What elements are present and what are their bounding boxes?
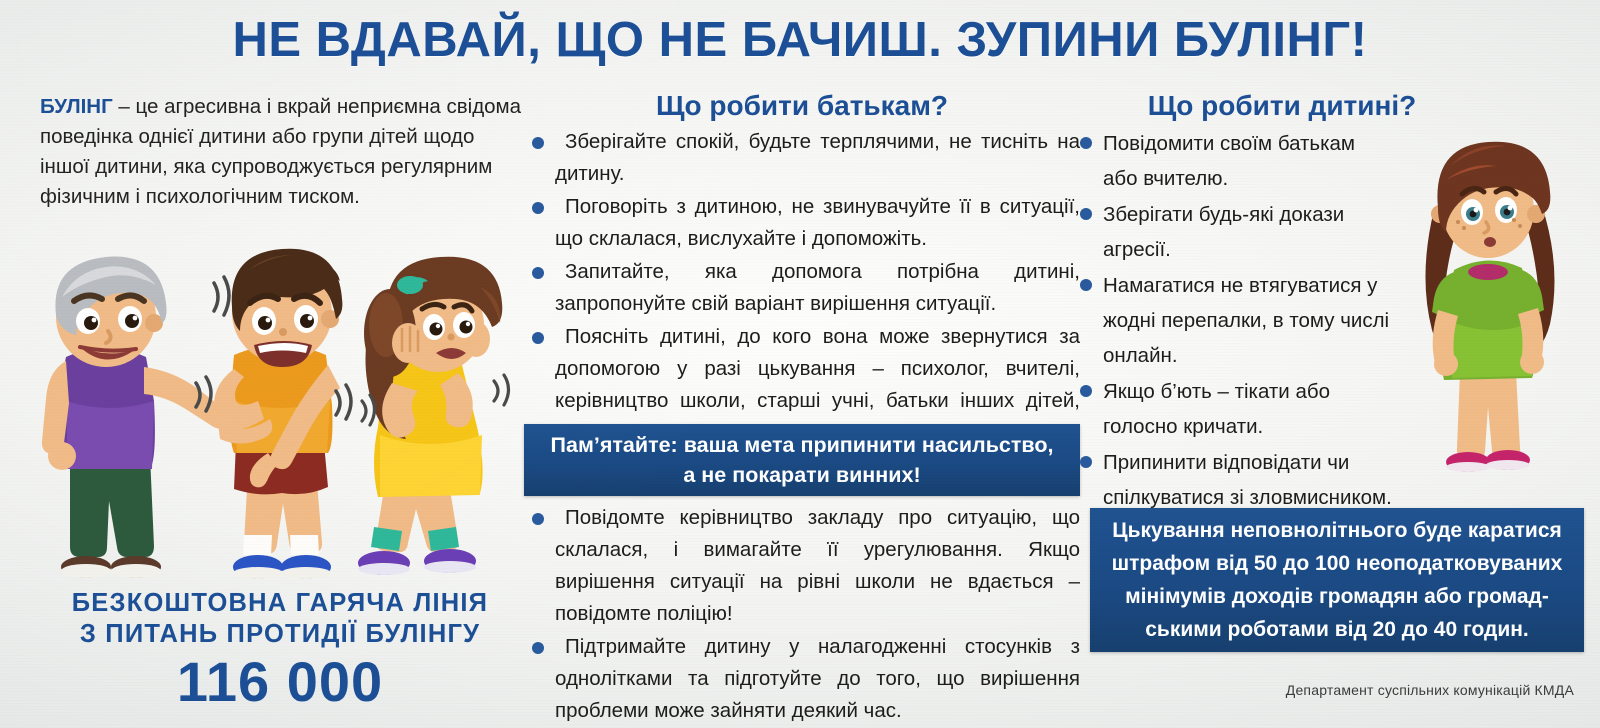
list-item: Припинити відповідати чи спілкуватися зі… <box>1072 445 1392 515</box>
penalty-line-4: ськими роботами від 20 до 40 годин. <box>1145 613 1529 646</box>
list-item: Поговоріть з дитиною, не звинувачуйте її… <box>524 191 1080 255</box>
list-item: Запитайте, яка допомога потрібна дитині,… <box>524 256 1080 320</box>
bullet-dot-icon <box>1080 456 1092 468</box>
hotline-line-1: БЕЗКОШТОВНА ГАРЯЧА ЛІНІЯ <box>30 588 530 619</box>
bully-boy-figure <box>42 257 241 578</box>
intro-keyword: БУЛІНГ <box>40 95 113 118</box>
intro-body: – це агресивна і вкрай неприємна свідома… <box>40 95 521 208</box>
sad-girl-illustration <box>1382 122 1592 490</box>
parents-advice-list-top: Зберігайте спокій, будьте терплячими, не… <box>524 126 1080 450</box>
list-item-text: Намагатися не втягуватися у жодні перепа… <box>1103 268 1392 373</box>
hotline-line-2: З ПИТАНЬ ПРОТИДІЇ БУЛІНГУ <box>30 619 530 650</box>
list-item-text: Повідомте керівництво закладу про ситуац… <box>555 502 1080 630</box>
list-item-text: Припинити відповідати чи спілкуватися зі… <box>1103 445 1392 515</box>
list-item-text: Зберігайте спокій, будьте терплячими, не… <box>555 126 1080 190</box>
scared-boy-figure <box>196 249 351 579</box>
list-item: Зберігайте спокій, будьте терплячими, не… <box>524 126 1080 190</box>
list-item-text: Якщо б’ють – тікати або голосно кричати. <box>1103 374 1392 444</box>
sad-girl-figure <box>1425 142 1554 472</box>
department-credit: Департамент суспільних комунікацій КМДА <box>1286 682 1574 698</box>
penalty-line-1: Цькування неповнолітнього буде каратися <box>1112 514 1562 547</box>
section-heading-child: Що робити дитині? <box>1072 90 1492 122</box>
remember-callout-box: Пам’ятайте: ваша мета припинити насильст… <box>524 424 1080 496</box>
list-item-text: Зберігати будь-які докази агресії. <box>1103 197 1392 267</box>
page-title: НЕ ВДАВАЙ, ЩО НЕ БАЧИШ. ЗУПИНИ БУЛІНГ! <box>0 12 1600 68</box>
bullet-dot-icon <box>1080 385 1092 397</box>
covering-ears-girl-figure <box>358 257 509 575</box>
bullet-dot-icon <box>532 332 544 344</box>
parents-advice-list-bottom: Повідомте керівництво закладу про ситуац… <box>524 502 1080 728</box>
list-item-text: Запитайте, яка допомога потрібна дитині,… <box>555 256 1080 320</box>
list-item-text: Повідомити своїм батькам або вчителю. <box>1103 126 1392 196</box>
bullet-dot-icon <box>532 642 544 654</box>
bullet-dot-icon <box>1080 208 1092 220</box>
hotline-number: 116 000 <box>30 652 530 712</box>
hotline-block: БЕЗКОШТОВНА ГАРЯЧА ЛІНІЯ З ПИТАНЬ ПРОТИД… <box>30 588 530 712</box>
bullet-dot-icon <box>532 202 544 214</box>
section-heading-parents: Що робити батькам? <box>524 90 1080 122</box>
list-item-text: Підтримайте дитину у налагодженні стосун… <box>555 631 1080 727</box>
list-item: Зберігати будь-які докази агресії. <box>1072 197 1392 267</box>
remember-line-2: а не покарати винних! <box>683 460 920 490</box>
list-item: Повідомити своїм батькам або вчителю. <box>1072 126 1392 196</box>
poster-root: НЕ ВДАВАЙ, ЩО НЕ БАЧИШ. ЗУПИНИ БУЛІНГ! Б… <box>0 0 1600 728</box>
bullet-dot-icon <box>1080 279 1092 291</box>
intro-paragraph: БУЛІНГ – це агресивна і вкрай неприємна … <box>40 92 524 212</box>
list-item: Якщо б’ють – тікати або голосно кричати. <box>1072 374 1392 444</box>
bullet-dot-icon <box>532 267 544 279</box>
bullying-scene-illustration <box>18 205 526 605</box>
list-item: Намагатися не втягуватися у жодні перепа… <box>1072 268 1392 373</box>
list-item-text: Поговоріть з дитиною, не звинувачуйте її… <box>555 191 1080 255</box>
child-advice-list: Повідомити своїм батькам або вчителю. Зб… <box>1072 126 1392 516</box>
penalty-callout-box: Цькування неповнолітнього буде каратися … <box>1090 508 1584 652</box>
bullet-dot-icon <box>532 137 544 149</box>
list-item: Підтримайте дитину у налагодженні стосун… <box>524 631 1080 727</box>
penalty-line-2: штрафом від 50 до 100 неоподатковуваних <box>1112 547 1563 580</box>
bullet-dot-icon <box>1080 137 1092 149</box>
bullet-dot-icon <box>532 513 544 525</box>
list-item: Повідомте керівництво закладу про ситуац… <box>524 502 1080 630</box>
remember-line-1: Пам’ятайте: ваша мета припинити насильст… <box>551 430 1054 460</box>
penalty-line-3: мінімумів доходів громадян або громад- <box>1125 580 1549 613</box>
